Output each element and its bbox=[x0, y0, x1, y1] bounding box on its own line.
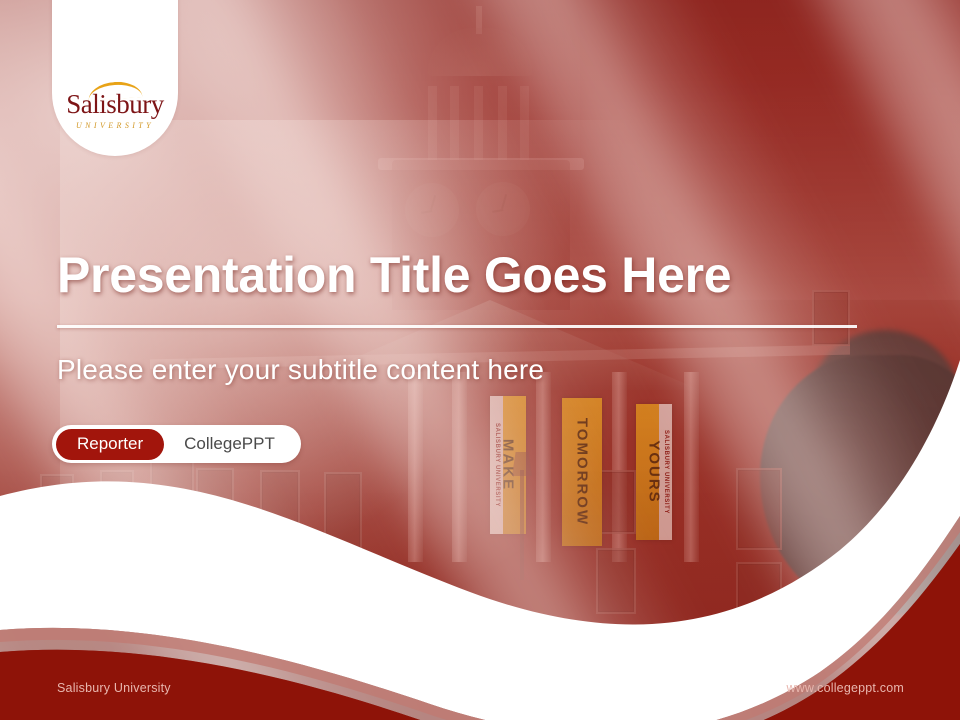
logo-badge: Salisbury UNIVERSITY bbox=[52, 0, 178, 156]
logo-subtext: UNIVERSITY bbox=[66, 121, 164, 130]
reporter-label: Reporter bbox=[56, 429, 164, 460]
footer-organization: Salisbury University bbox=[57, 681, 171, 695]
slide-title[interactable]: Presentation Title Goes Here bbox=[57, 248, 877, 302]
presentation-slide: SALISBURY UNIVERSITY MAKE TOMORROW SALIS… bbox=[0, 0, 960, 720]
reporter-value[interactable]: CollegePPT bbox=[164, 434, 297, 454]
title-divider bbox=[57, 325, 857, 328]
footer-website[interactable]: www.collegeppt.com bbox=[786, 681, 904, 695]
reporter-pill[interactable]: Reporter CollegePPT bbox=[52, 425, 301, 463]
slide-subtitle[interactable]: Please enter your subtitle content here bbox=[57, 354, 544, 386]
